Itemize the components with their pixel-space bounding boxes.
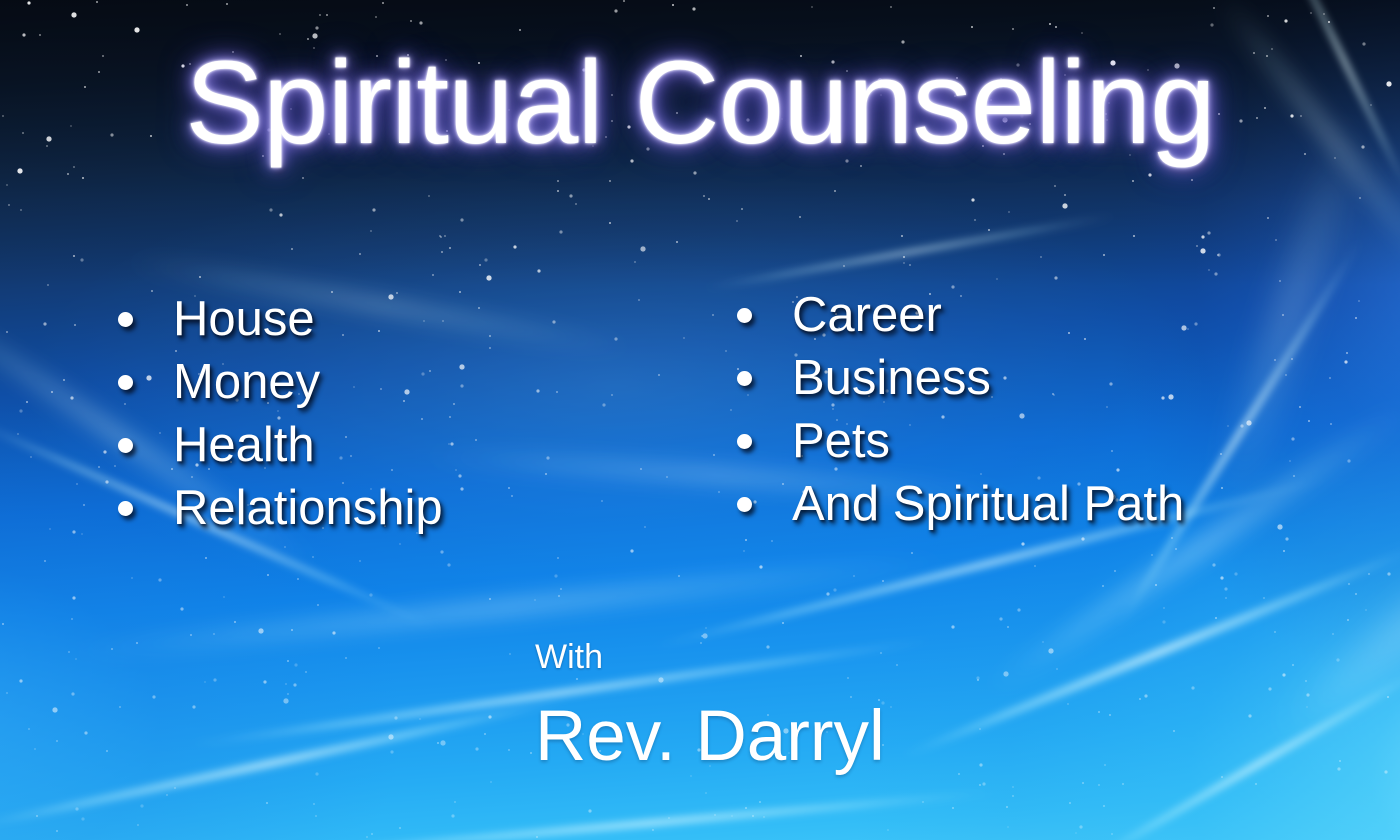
list-item: Relationship bbox=[118, 477, 443, 540]
bullet-dot-icon bbox=[737, 497, 752, 512]
list-item-label: Career bbox=[792, 291, 942, 340]
services-list-left: House Money Health Relationship bbox=[118, 288, 443, 540]
presenter-name: Rev. Darryl bbox=[535, 701, 885, 772]
list-item: Pets bbox=[737, 410, 1184, 473]
bullet-dot-icon bbox=[118, 438, 133, 453]
list-item: Health bbox=[118, 414, 443, 477]
bullet-dot-icon bbox=[118, 312, 133, 327]
list-item-label: House bbox=[173, 295, 315, 344]
bullet-dot-icon bbox=[737, 434, 752, 449]
list-item-label: Pets bbox=[792, 417, 890, 466]
list-item: Career bbox=[737, 284, 1184, 347]
list-item-label: Relationship bbox=[173, 484, 443, 533]
bullet-dot-icon bbox=[737, 371, 752, 386]
presenter-credit: With Rev. Darryl bbox=[535, 640, 885, 772]
page-title: Spiritual Counseling bbox=[0, 42, 1400, 166]
list-item: House bbox=[118, 288, 443, 351]
presentation-slide: Spiritual Counseling House Money Health bbox=[0, 0, 1400, 840]
bullet-dot-icon bbox=[118, 501, 133, 516]
list-item-label: Health bbox=[173, 421, 315, 470]
list-item: And Spiritual Path bbox=[737, 473, 1184, 536]
list-item: Business bbox=[737, 347, 1184, 410]
list-item-label: Business bbox=[792, 354, 991, 403]
services-lists: House Money Health Relationship bbox=[0, 288, 1400, 538]
services-list-right: Career Business Pets And Spiritual Path bbox=[737, 284, 1184, 536]
list-item-label: And Spiritual Path bbox=[792, 480, 1184, 529]
credit-with-label: With bbox=[535, 640, 885, 674]
bullet-dot-icon bbox=[737, 308, 752, 323]
list-item-label: Money bbox=[173, 358, 320, 407]
bullet-dot-icon bbox=[118, 375, 133, 390]
list-item: Money bbox=[118, 351, 443, 414]
